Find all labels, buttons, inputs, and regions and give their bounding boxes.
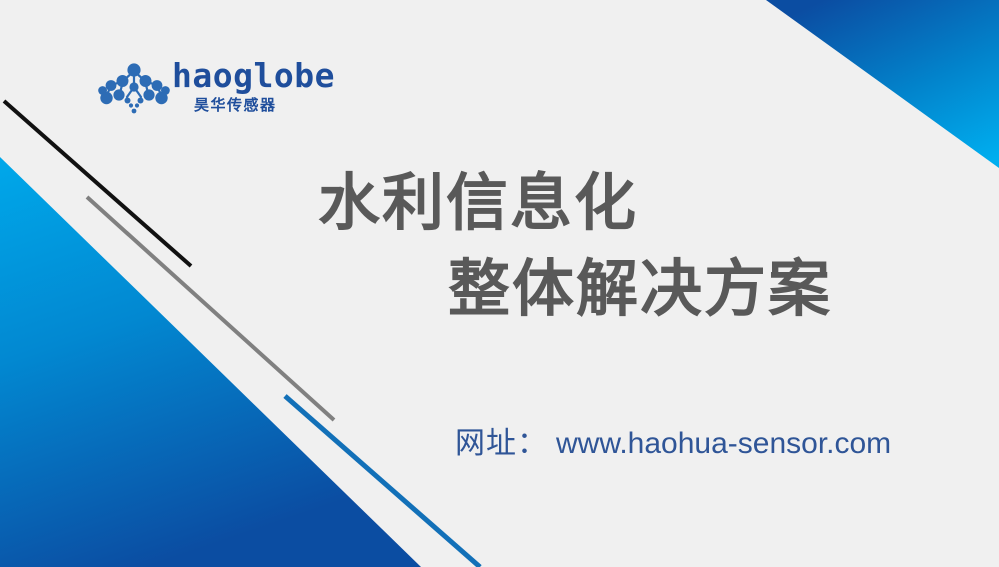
logo-subtitle-cn: 昊华传感器 bbox=[194, 95, 277, 115]
website-line: 网址： www.haohua-sensor.com bbox=[455, 418, 891, 462]
title-line-2: 整体解决方案 bbox=[0, 246, 999, 332]
slide-canvas: haoglobe 昊华传感器 水利信息化 整体解决方案 网址： www.haoh… bbox=[0, 0, 999, 567]
website-url[interactable]: www.haohua-sensor.com bbox=[556, 427, 891, 461]
website-label: 网址： bbox=[455, 418, 548, 462]
top-right-blue-gradient-triangle bbox=[766, 0, 999, 168]
title-line-1: 水利信息化 bbox=[0, 160, 999, 246]
page-title: 水利信息化 整体解决方案 bbox=[0, 160, 999, 332]
blue-diagonal-line bbox=[285, 396, 480, 567]
brand-logo[interactable]: haoglobe 昊华传感器 bbox=[98, 56, 323, 118]
logo-wordmark: haoglobe bbox=[172, 56, 335, 96]
network-dots-icon bbox=[98, 60, 170, 116]
